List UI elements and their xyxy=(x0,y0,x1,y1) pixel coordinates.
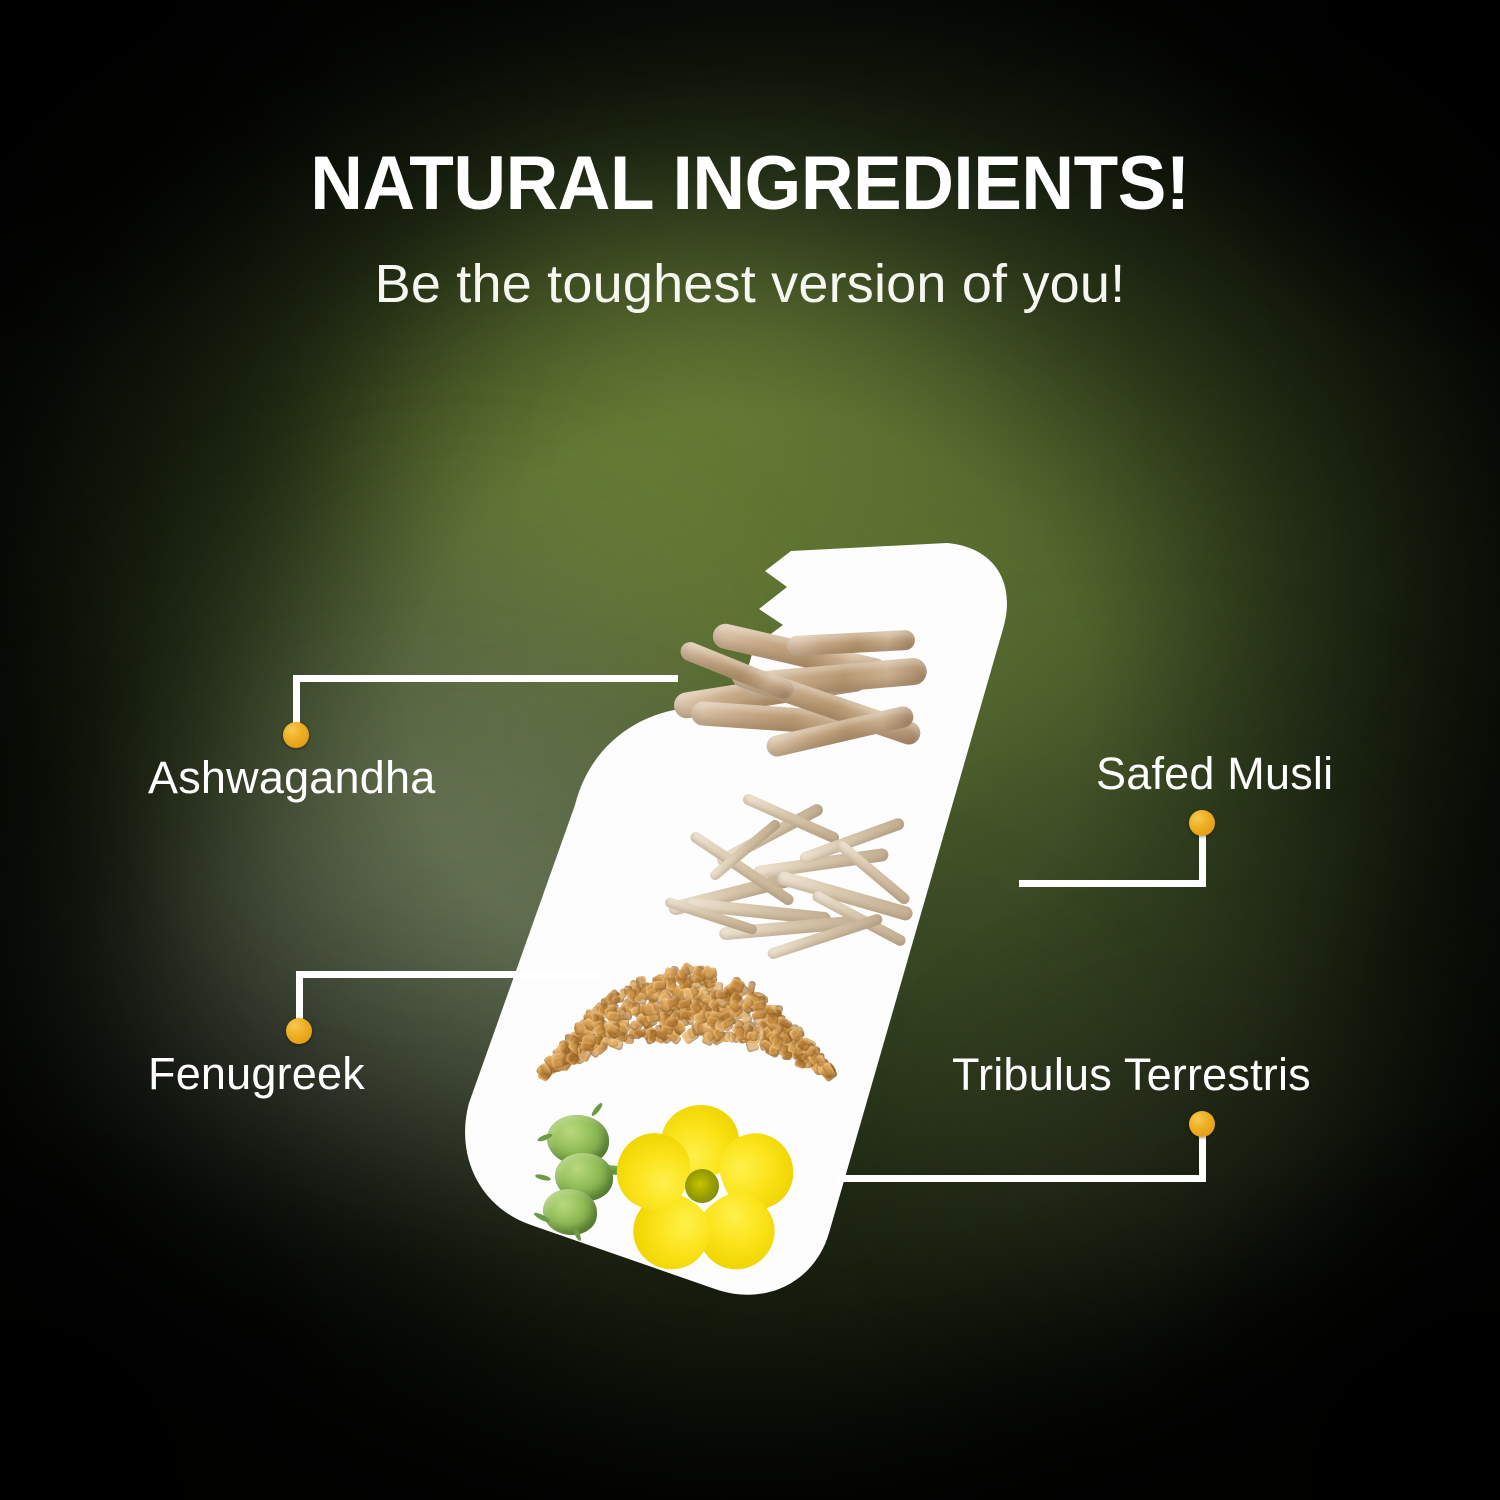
fenugreek-seed xyxy=(653,981,667,991)
callout-ashwagandha-dot[interactable] xyxy=(283,722,309,748)
fenugreek-seed xyxy=(630,1007,640,1016)
page-title: NATURAL INGREDIENTS! xyxy=(30,142,1470,226)
callout-tribulus-label: Tribulus Terrestris xyxy=(952,1049,1311,1101)
callout-fenugreek-label: Fenugreek xyxy=(148,1048,365,1100)
callout-safed-musli-line-horizontal xyxy=(1019,880,1206,887)
ingredients-infographic: NATURAL INGREDIENTS! Be the toughest ver… xyxy=(0,0,1500,1500)
fenugreek-seed xyxy=(666,977,676,989)
safed-musli-image xyxy=(657,801,925,969)
callout-safed-musli-label: Safed Musli xyxy=(1096,748,1333,800)
tribulus-flower-image xyxy=(533,1091,833,1281)
callout-safed-musli-dot[interactable] xyxy=(1189,810,1215,836)
product-bottle xyxy=(447,543,1055,1295)
fenugreek-seed xyxy=(606,1011,621,1022)
callout-ashwagandha-line-horizontal xyxy=(293,675,678,682)
callout-fenugreek-line-horizontal xyxy=(296,971,599,978)
fenugreek-seed xyxy=(766,1013,779,1026)
callout-fenugreek-dot[interactable] xyxy=(286,1018,312,1044)
callout-tribulus-dot[interactable] xyxy=(1189,1111,1215,1137)
fenugreek-seed xyxy=(641,1003,655,1017)
fenugreek-seed xyxy=(580,1041,594,1051)
callout-ashwagandha-label: Ashwagandha xyxy=(148,752,435,804)
callout-tribulus-line-horizontal xyxy=(836,1175,1206,1182)
page-subtitle: Be the toughest version of you! xyxy=(0,252,1500,316)
ashwagandha-roots-image xyxy=(667,621,937,771)
